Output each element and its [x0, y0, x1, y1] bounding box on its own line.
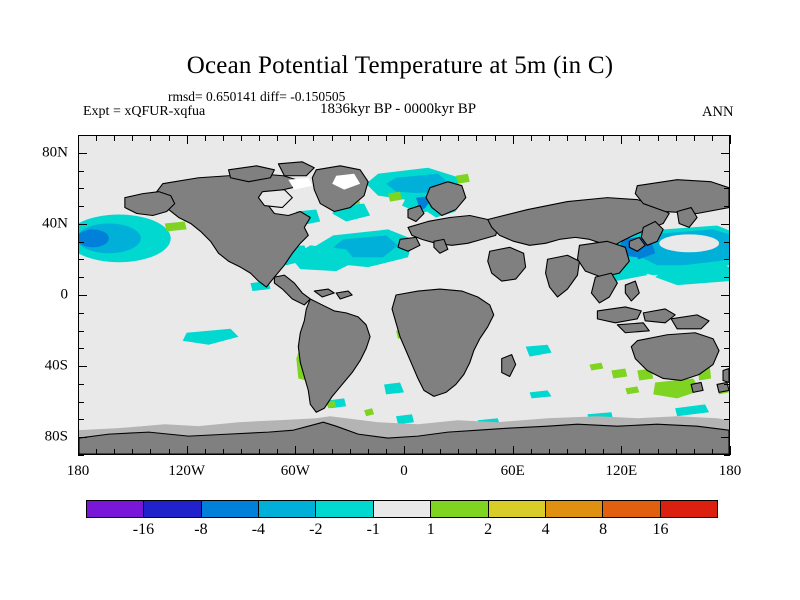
- x-tick: [422, 449, 423, 455]
- x-tick-top: [332, 135, 333, 141]
- x-tick-top: [585, 135, 586, 141]
- colorbar-segment[interactable]: [258, 501, 315, 517]
- y-tick-right: [724, 171, 730, 172]
- x-tick-top: [96, 135, 97, 141]
- colorbar-tick-label: 4: [542, 521, 550, 539]
- y-tick-right: [721, 224, 730, 225]
- x-tick-top: [205, 135, 206, 141]
- season-label: ANN: [702, 104, 733, 121]
- x-tick-top: [169, 135, 170, 141]
- colorbar-segment[interactable]: [545, 501, 602, 517]
- x-tick-top: [712, 135, 713, 141]
- x-tick-top: [114, 135, 115, 141]
- y-tick: [78, 366, 87, 367]
- x-tick: [169, 449, 170, 455]
- y-axis-label: 80S: [22, 429, 68, 446]
- x-tick: [440, 449, 441, 455]
- y-tick-right: [724, 384, 730, 385]
- y-tick-right: [721, 295, 730, 296]
- y-tick-right: [724, 402, 730, 403]
- x-tick-top: [368, 135, 369, 141]
- x-tick-top: [567, 135, 568, 141]
- x-tick: [78, 446, 79, 455]
- y-tick: [78, 277, 84, 278]
- x-tick-top: [313, 135, 314, 141]
- x-tick: [549, 449, 550, 455]
- y-tick: [78, 402, 84, 403]
- y-tick: [78, 313, 84, 314]
- x-tick: [96, 449, 97, 455]
- y-tick-right: [724, 419, 730, 420]
- x-tick: [513, 446, 514, 455]
- x-tick: [277, 449, 278, 455]
- map-plot-area: [78, 135, 730, 455]
- x-tick-top: [531, 135, 532, 141]
- y-axis-label: 40N: [22, 215, 68, 232]
- x-axis-label: 120E: [605, 463, 637, 480]
- x-tick: [458, 449, 459, 455]
- x-tick: [712, 449, 713, 455]
- x-tick-top: [603, 135, 604, 141]
- y-tick-right: [724, 348, 730, 349]
- x-tick: [241, 449, 242, 455]
- x-tick-top: [187, 135, 188, 144]
- colorbar-tick-label: 2: [484, 521, 492, 539]
- y-tick-right: [724, 188, 730, 189]
- y-tick: [78, 171, 84, 172]
- x-tick: [350, 449, 351, 455]
- x-tick-top: [150, 135, 151, 141]
- x-tick: [476, 449, 477, 455]
- colorbar-segment[interactable]: [488, 501, 545, 517]
- x-axis-label: 60W: [281, 463, 310, 480]
- x-axis-label: 60E: [501, 463, 525, 480]
- x-tick: [386, 449, 387, 455]
- world-map-heatmap: [79, 136, 729, 454]
- x-tick: [368, 449, 369, 455]
- x-tick-top: [259, 135, 260, 141]
- x-tick: [730, 446, 731, 455]
- colorbar-tick-label: -8: [194, 521, 207, 539]
- x-tick-top: [639, 135, 640, 141]
- x-tick-top: [495, 135, 496, 141]
- y-tick-right: [721, 366, 730, 367]
- x-tick: [404, 446, 405, 455]
- y-axis-label: 80N: [22, 144, 68, 161]
- x-tick-top: [513, 135, 514, 144]
- x-tick: [676, 449, 677, 455]
- y-tick: [78, 331, 84, 332]
- x-tick-top: [730, 135, 731, 144]
- x-tick: [259, 449, 260, 455]
- colorbar-tick-label: -4: [252, 521, 265, 539]
- y-axis-label: 40S: [22, 358, 68, 375]
- y-tick: [78, 295, 87, 296]
- y-tick: [78, 153, 87, 154]
- x-tick-top: [422, 135, 423, 141]
- x-tick: [313, 449, 314, 455]
- x-tick: [603, 449, 604, 455]
- colorbar-tick-label: 8: [599, 521, 607, 539]
- y-tick: [78, 135, 84, 136]
- x-tick: [567, 449, 568, 455]
- y-tick: [78, 242, 84, 243]
- colorbar-segment[interactable]: [143, 501, 200, 517]
- period-label: 1836kyr BP - 0000kyr BP: [320, 101, 476, 118]
- x-axis-label: 180: [719, 463, 742, 480]
- y-tick-right: [724, 206, 730, 207]
- x-tick: [295, 446, 296, 455]
- x-tick: [639, 449, 640, 455]
- x-tick: [585, 449, 586, 455]
- y-tick: [78, 206, 84, 207]
- x-tick-top: [458, 135, 459, 141]
- colorbar-segment[interactable]: [87, 501, 143, 517]
- y-tick-right: [724, 277, 730, 278]
- y-tick: [78, 348, 84, 349]
- y-tick: [78, 188, 84, 189]
- y-tick: [78, 455, 84, 456]
- x-tick: [150, 449, 151, 455]
- y-tick: [78, 437, 87, 438]
- colorbar-segment[interactable]: [660, 501, 717, 517]
- colorbar-tick-label: -2: [309, 521, 322, 539]
- x-tick-top: [241, 135, 242, 141]
- x-tick: [205, 449, 206, 455]
- statistics-label: rmsd= 0.650141 diff= -0.150505: [168, 89, 345, 105]
- y-tick-right: [724, 242, 730, 243]
- x-tick-top: [277, 135, 278, 141]
- x-tick-top: [694, 135, 695, 141]
- x-tick-top: [476, 135, 477, 141]
- y-tick: [78, 259, 84, 260]
- y-tick-right: [724, 259, 730, 260]
- y-axis-label: 0: [22, 287, 68, 304]
- y-tick-right: [724, 455, 730, 456]
- colorbar-tick-label: -1: [367, 521, 380, 539]
- y-tick: [78, 419, 84, 420]
- x-axis-label: 0: [400, 463, 408, 480]
- colorbar-tick-label: -16: [133, 521, 154, 539]
- colorbar-segment[interactable]: [201, 501, 258, 517]
- x-tick-top: [295, 135, 296, 144]
- x-tick: [332, 449, 333, 455]
- x-tick-top: [350, 135, 351, 141]
- x-tick-top: [440, 135, 441, 141]
- y-tick-right: [724, 331, 730, 332]
- colorbar-tick-label: 16: [653, 521, 669, 539]
- x-tick: [132, 449, 133, 455]
- colorbar-segment[interactable]: [315, 501, 372, 517]
- x-tick-top: [132, 135, 133, 141]
- y-tick-right: [721, 437, 730, 438]
- y-tick-right: [721, 153, 730, 154]
- colorbar-segment[interactable]: [430, 501, 487, 517]
- x-tick-top: [676, 135, 677, 141]
- x-tick-top: [621, 135, 622, 144]
- page-title: Ocean Potential Temperature at 5m (in C): [0, 52, 800, 80]
- x-tick-top: [386, 135, 387, 141]
- x-tick-top: [78, 135, 79, 144]
- x-tick-top: [549, 135, 550, 141]
- x-tick: [223, 449, 224, 455]
- x-tick: [621, 446, 622, 455]
- x-tick: [114, 449, 115, 455]
- x-tick: [658, 449, 659, 455]
- experiment-label: Expt = xQFUR-xqfua: [83, 104, 205, 120]
- colorbar[interactable]: [86, 500, 718, 518]
- y-tick-right: [724, 313, 730, 314]
- colorbar-tick-label: 1: [427, 521, 435, 539]
- x-tick: [531, 449, 532, 455]
- x-tick: [495, 449, 496, 455]
- colorbar-segment[interactable]: [602, 501, 659, 517]
- x-tick-top: [404, 135, 405, 144]
- y-tick: [78, 224, 87, 225]
- colorbar-swatches[interactable]: [86, 500, 718, 518]
- x-axis-label: 180: [67, 463, 90, 480]
- y-tick-right: [724, 135, 730, 136]
- x-axis-label: 120W: [168, 463, 205, 480]
- x-tick-top: [223, 135, 224, 141]
- y-tick: [78, 384, 84, 385]
- colorbar-segment[interactable]: [373, 501, 430, 517]
- x-tick-top: [658, 135, 659, 141]
- x-tick: [187, 446, 188, 455]
- x-tick: [694, 449, 695, 455]
